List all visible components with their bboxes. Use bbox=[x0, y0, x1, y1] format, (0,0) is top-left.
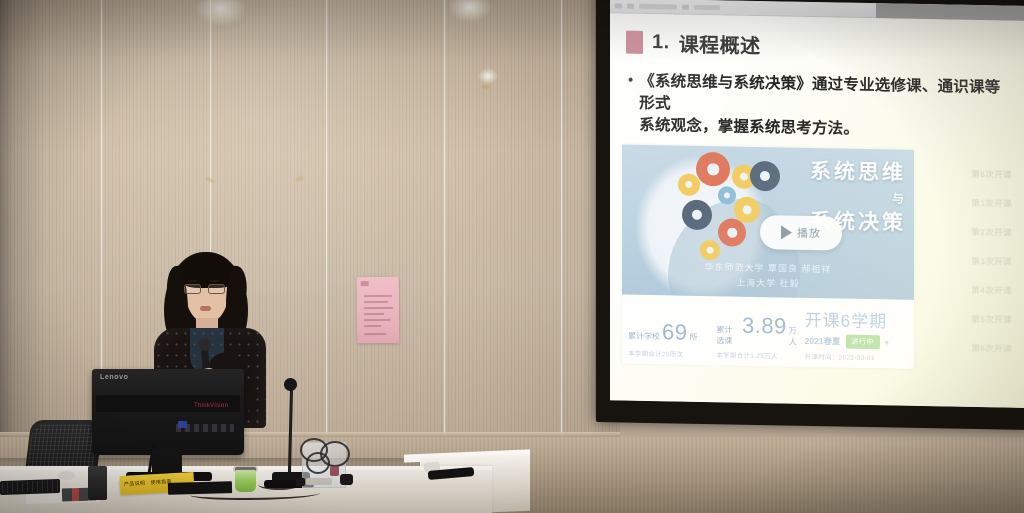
power-plug bbox=[340, 474, 353, 485]
address-bar[interactable] bbox=[639, 3, 677, 9]
glasses-icon bbox=[184, 284, 230, 294]
back-icon[interactable] bbox=[615, 3, 622, 8]
session-list-item[interactable]: 第5次开课 bbox=[920, 303, 1016, 334]
gear-icon bbox=[718, 218, 746, 247]
slide-section-number: 1. bbox=[652, 31, 670, 54]
term-subtext: 开课时间：2021-03-01 bbox=[805, 351, 910, 363]
term-row: 2021春夏 进行中 ▾ bbox=[805, 334, 910, 350]
desk-speaker bbox=[88, 466, 107, 500]
session-list-item[interactable]: 第1次开课 bbox=[920, 187, 1016, 218]
play-icon bbox=[781, 225, 792, 239]
chair-mesh-back bbox=[27, 424, 99, 470]
stat-value-row: 累计选课 3.89 万人 bbox=[716, 312, 800, 348]
gear-icon bbox=[718, 186, 736, 204]
gear-icon bbox=[682, 200, 712, 231]
gear-icon bbox=[678, 174, 700, 196]
pink-notice-poster bbox=[357, 277, 400, 343]
monitor-vga-port bbox=[178, 421, 187, 428]
glasses-lens bbox=[184, 284, 201, 294]
chevron-down-icon[interactable]: ▾ bbox=[885, 338, 889, 347]
lecture-room-photo: Lenovo ThinkVision 产品说明 · 使用指南 bbox=[0, 0, 1024, 513]
stat-subtext: 本学期合计20所次 bbox=[628, 348, 712, 360]
session-list-item[interactable]: 第2次开课 bbox=[920, 216, 1016, 247]
projection-screen: 1. 课程概述 • 《系统思维与系统决策》通过专业选修课、通识课等形式 系统观念… bbox=[596, 0, 1024, 430]
eyebrow bbox=[188, 280, 197, 282]
gear-icon bbox=[700, 240, 720, 260]
play-button[interactable]: 播放 bbox=[760, 215, 842, 251]
mouth bbox=[200, 306, 211, 311]
stat-enrollment: 累计选课 3.89 万人 本学期合计1.25万人 bbox=[716, 312, 800, 361]
red-adapter bbox=[330, 466, 339, 476]
stat-value: 69 bbox=[662, 319, 687, 345]
keyboard-keys[interactable] bbox=[2, 480, 58, 493]
gooseneck-mic-head bbox=[284, 378, 297, 391]
video-credits: 华东师范大学 覃国良 郝祖祥 上海大学 杜毅 bbox=[622, 258, 914, 295]
stat-value: 3.89 bbox=[742, 313, 787, 340]
refresh-icon[interactable] bbox=[682, 4, 689, 9]
presentation-slide: 1. 课程概述 • 《系统思维与系统决策》通过专业选修课、通识课等形式 系统观念… bbox=[610, 13, 1024, 408]
usb-adapter bbox=[306, 478, 332, 485]
microphone-head bbox=[199, 338, 211, 351]
session-list-item[interactable]: 第6次开课 bbox=[920, 158, 1016, 189]
term-label: 2021春夏 bbox=[805, 335, 841, 348]
stat-unit: 万人 bbox=[789, 326, 801, 348]
stat-subtext: 本学期合计1.25万人 bbox=[716, 349, 800, 361]
gear-icon bbox=[750, 161, 780, 192]
toolbar-field[interactable] bbox=[694, 4, 720, 9]
bullet-text: 《系统思维与系统决策》通过专业选修课、通识课等形式 系统观念，掌握系统思考方法。 bbox=[639, 71, 1016, 144]
bullet-line-1: 《系统思维与系统决策》通过专业选修课、通识课等形式 bbox=[639, 71, 1016, 122]
term-info: 开课6学期 2021春夏 进行中 ▾ 开课时间：2021-03-01 bbox=[805, 306, 910, 363]
session-list-item[interactable]: 第4次开课 bbox=[920, 274, 1016, 305]
slide-content-columns: 系统思维 与 系统决策 播放 华东师范大学 覃国良 郝祖祥 上海大学 bbox=[622, 144, 1016, 370]
monitor-rear bbox=[92, 369, 244, 455]
title-accent-block bbox=[626, 31, 643, 54]
stat-value-row: 累计学校 69 所 bbox=[628, 319, 712, 347]
session-list-item[interactable]: 第6次开课 bbox=[920, 332, 1016, 363]
stat-label: 累计学校 bbox=[628, 331, 660, 343]
video-title-conj: 与 bbox=[810, 187, 906, 207]
gear-icon bbox=[696, 152, 730, 187]
stat-schools: 累计学校 69 所 本学期合计20所次 bbox=[628, 319, 712, 360]
session-list-item[interactable]: 第3次开课 bbox=[920, 245, 1016, 276]
mouse[interactable] bbox=[58, 471, 75, 480]
slide-title-row: 1. 课程概述 bbox=[626, 28, 1016, 64]
monitor-brand-label: Lenovo bbox=[100, 374, 129, 381]
status-badge: 进行中 bbox=[846, 335, 880, 350]
forward-icon[interactable] bbox=[627, 3, 634, 8]
slide-title: 课程概述 bbox=[679, 29, 761, 60]
stat-label: 累计选课 bbox=[716, 324, 740, 346]
session-list[interactable]: 第6次开课 第1次开课 第2次开课 第3次开课 第4次开课 第5次开课 第6次开… bbox=[920, 150, 1016, 371]
notice-header-mark bbox=[361, 281, 369, 286]
term-headline: 开课6学期 bbox=[805, 306, 910, 333]
bullet-marker: • bbox=[628, 71, 633, 137]
glasses-lens bbox=[208, 284, 225, 294]
screen-display-area: 1. 课程概述 • 《系统思维与系统决策》通过专业选修课、通识课等形式 系统观念… bbox=[610, 0, 1024, 408]
course-video-thumbnail[interactable]: 系统思维 与 系统决策 播放 华东师范大学 覃国良 郝祖祥 上海大学 bbox=[622, 144, 914, 299]
video-title-line1: 系统思维 bbox=[810, 156, 906, 189]
stat-unit: 所 bbox=[689, 332, 697, 343]
monitor-model-label: ThinkVision bbox=[194, 403, 228, 409]
slide-bullet: • 《系统思维与系统决策》通过专业选修课、通识课等形式 系统观念，掌握系统思考方… bbox=[628, 71, 1016, 144]
course-statistics: 累计学校 69 所 本学期合计20所次 累计选课 3.89 bbox=[622, 294, 914, 368]
eyebrow bbox=[210, 280, 219, 282]
desk-cable-run bbox=[258, 479, 300, 490]
course-card[interactable]: 系统思维 与 系统决策 播放 华东师范大学 覃国良 郝祖祥 上海大学 bbox=[622, 144, 914, 368]
play-button-label: 播放 bbox=[797, 225, 821, 241]
coiled-cable bbox=[306, 452, 330, 474]
